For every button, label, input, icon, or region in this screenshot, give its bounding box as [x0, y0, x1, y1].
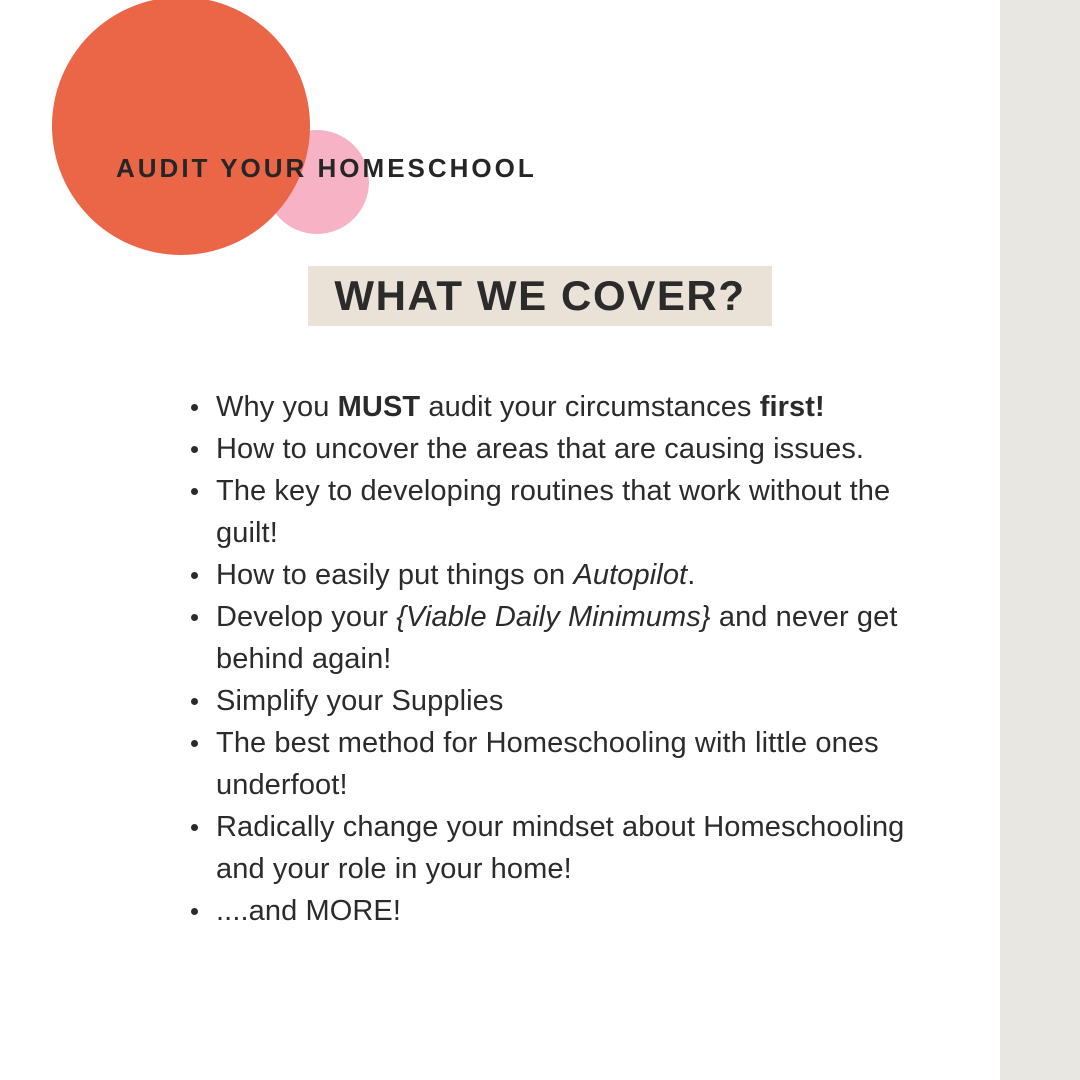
- list-item-segment: MUST: [338, 391, 421, 423]
- list-item-text: The key to developing routines that work…: [216, 475, 890, 549]
- right-edge-band: [1000, 0, 1080, 1080]
- list-item: How to uncover the areas that are causin…: [190, 428, 950, 470]
- list-item: Develop your {Viable Daily Minimums} and…: [190, 596, 950, 680]
- list-item-text: How to uncover the areas that are causin…: [216, 433, 864, 465]
- list-item-segment: .: [687, 559, 695, 591]
- list-item-text: Why you MUST audit your circumstances fi…: [216, 391, 825, 423]
- list-item-segment: Autopilot: [573, 559, 687, 591]
- list-item: ....and MORE!: [190, 890, 950, 932]
- list-item: How to easily put things on Autopilot.: [190, 554, 950, 596]
- list-item-text: Develop your {Viable Daily Minimums} and…: [216, 601, 898, 675]
- page-title: WHAT WE COVER?: [334, 272, 745, 320]
- list-item: Simplify your Supplies: [190, 680, 950, 722]
- list-item-segment: audit your circumstances: [420, 391, 759, 423]
- list-item: The best method for Homeschooling with l…: [190, 722, 950, 806]
- bullet-dot-icon: [191, 824, 198, 831]
- list-item-text: Radically change your mindset about Home…: [216, 811, 904, 885]
- list-item-text: Simplify your Supplies: [216, 685, 504, 717]
- list-item-segment: Why you: [216, 391, 338, 423]
- list-item: Why you MUST audit your circumstances fi…: [190, 386, 950, 428]
- list-item-segment: ....and MORE!: [216, 895, 401, 927]
- list-item-segment: The key to developing routines that work…: [216, 475, 890, 549]
- list-item-segment: {Viable Daily Minimums}: [396, 601, 710, 633]
- list-item: Radically change your mindset about Home…: [190, 806, 950, 890]
- bullet-dot-icon: [191, 446, 198, 453]
- list-item-segment: How to uncover the areas that are causin…: [216, 433, 864, 465]
- list-item-text: The best method for Homeschooling with l…: [216, 727, 879, 801]
- list-item-segment: Develop your: [216, 601, 396, 633]
- bullet-dot-icon: [191, 740, 198, 747]
- title-banner: WHAT WE COVER?: [308, 266, 772, 326]
- list-item-segment: How to easily put things on: [216, 559, 573, 591]
- list-item-text: ....and MORE!: [216, 895, 401, 927]
- list-item: The key to developing routines that work…: [190, 470, 950, 554]
- list-item-text: How to easily put things on Autopilot.: [216, 559, 695, 591]
- bullet-dot-icon: [191, 908, 198, 915]
- cover-list: Why you MUST audit your circumstances fi…: [190, 386, 950, 932]
- bullet-dot-icon: [191, 404, 198, 411]
- bullet-dot-icon: [191, 572, 198, 579]
- bullet-dot-icon: [191, 698, 198, 705]
- kicker-heading: AUDIT YOUR HOMESCHOOL: [116, 152, 537, 184]
- list-item-segment: Simplify your Supplies: [216, 685, 504, 717]
- bullet-dot-icon: [191, 488, 198, 495]
- slide-canvas: AUDIT YOUR HOMESCHOOL WHAT WE COVER? Why…: [0, 0, 1080, 1080]
- list-item-segment: Radically change your mindset about Home…: [216, 811, 904, 885]
- bullet-dot-icon: [191, 614, 198, 621]
- list-item-segment: first!: [760, 391, 825, 423]
- list-item-segment: The best method for Homeschooling with l…: [216, 727, 879, 801]
- orange-circle: [52, 0, 310, 255]
